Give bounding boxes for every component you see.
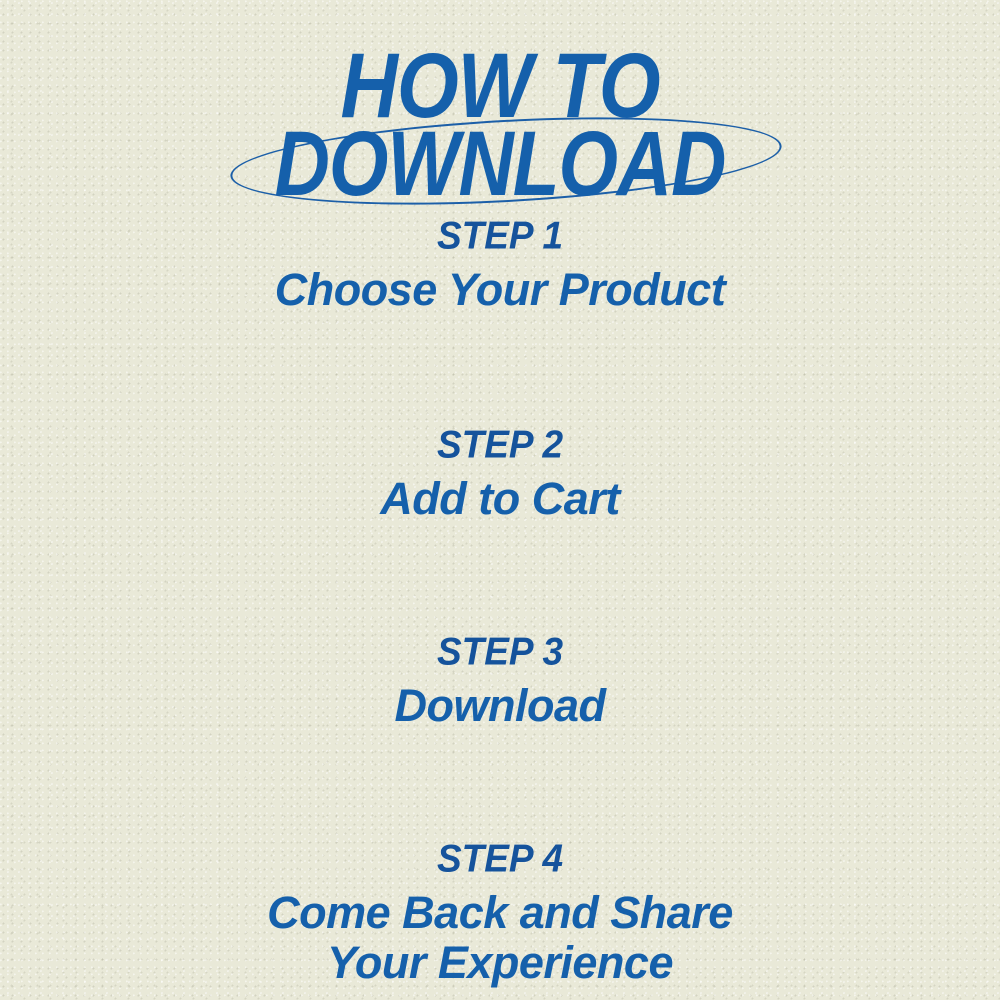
step-title-4: Come Back and Share Your Experience [0,888,1000,988]
step-title-line: Choose Your Product [0,265,1000,315]
step-heading-3: STEP 3 [0,631,1000,673]
step-item-4: STEP 4 Come Back and Share Your Experien… [0,839,1000,988]
steps-list: STEP 1 Choose Your Product STEP 2 Add to… [0,210,1000,988]
how-to-download-poster: HOW TO DOWNLOAD STEP 1 Choose Your Produ… [0,0,1000,1000]
step-title-1: Choose Your Product [0,265,1000,315]
poster-title-block: HOW TO DOWNLOAD [0,32,1000,197]
step-heading-4: STEP 4 [0,838,1000,880]
step-title-line: Add to Cart [0,474,1000,524]
poster-title-line-2: DOWNLOAD [0,118,1000,210]
step-heading-1: STEP 1 [0,215,1000,257]
step-item-1: STEP 1 Choose Your Product [0,216,1000,315]
step-item-3: STEP 3 Download [0,632,1000,731]
step-title-line: Your Experience [0,938,1000,988]
step-title-2: Add to Cart [0,474,1000,524]
step-title-line: Come Back and Share [0,888,1000,938]
step-title-3: Download [0,681,1000,731]
step-title-line: Download [0,681,1000,731]
step-item-2: STEP 2 Add to Cart [0,425,1000,524]
step-heading-2: STEP 2 [0,424,1000,466]
